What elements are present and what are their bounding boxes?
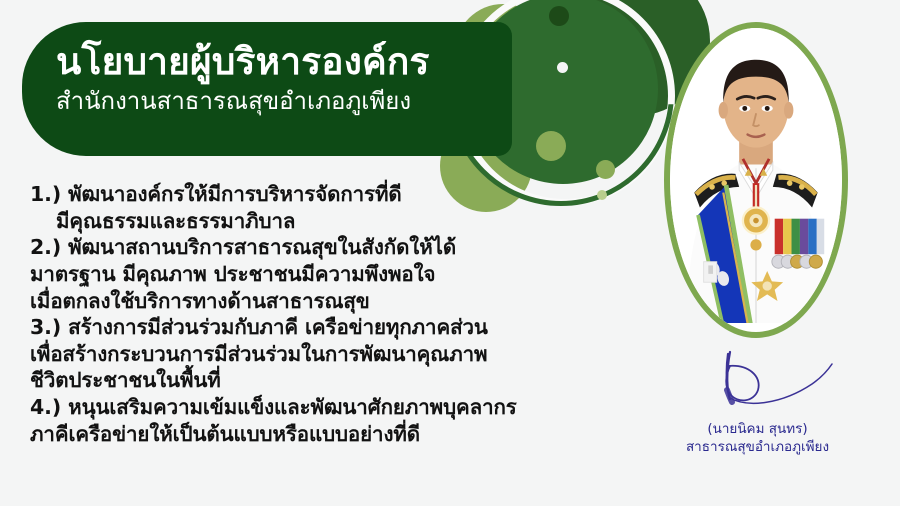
policy-line: เมื่อตกลงใช้บริการทางด้านสาธารณสุข	[30, 288, 620, 315]
policy-line: มาตรฐาน มีคุณภาพ ประชาชนมีความพึงพอใจ	[30, 261, 620, 288]
policy-line: 1.) พัฒนาองค์กรให้มีการบริหารจัดการที่ดี	[30, 181, 620, 208]
policy-line: ชีวิตประชาชนในพื้นที่	[30, 367, 620, 394]
policy-line: ภาคีเครือข่ายให้เป็นต้นแบบหรือแบบอย่างที…	[30, 421, 620, 448]
policy-line: เพื่อสร้างกระบวนการมีส่วนร่วมในการพัฒนาค…	[30, 341, 620, 368]
policy-line: มีคุณธรรมและธรรมาภิบาล	[30, 208, 620, 235]
policy-line: 2.) พัฒนาสถานบริการสาธารณสุขในสังกัดให้ไ…	[30, 234, 620, 261]
header-banner: นโยบายผู้บริหารองค์กร สำนักงานสาธารณสุขอ…	[22, 22, 512, 156]
decor-dot-dark	[549, 6, 569, 26]
policy-line: 3.) สร้างการมีส่วนร่วมกับภาคี เครือข่ายท…	[30, 314, 620, 341]
slide-canvas: นโยบายผู้บริหารองค์กร สำนักงานสาธารณสุขอ…	[0, 0, 900, 506]
caption-name: (นายนิคม สุนทร)	[650, 420, 865, 438]
policy-list: 1.) พัฒนาองค์กรให้มีการบริหารจัดการที่ดี…	[30, 181, 620, 447]
signature-caption: (นายนิคม สุนทร) สาธารณสุขอำเภอภูเพียง	[650, 420, 865, 456]
decor-dot-light	[596, 160, 615, 179]
caption-position: สาธารณสุขอำเภอภูเพียง	[650, 438, 865, 456]
page-subtitle: สำนักงานสาธารณสุขอำเภอภูเพียง	[56, 87, 512, 116]
page-title: นโยบายผู้บริหารองค์กร	[56, 42, 512, 82]
decor-dot-white	[557, 62, 568, 73]
portrait-frame	[664, 22, 848, 338]
policy-line: 4.) หนุนเสริมความเข้มแข็งและพัฒนาศักยภาพ…	[30, 394, 620, 421]
portrait-photo	[670, 28, 842, 323]
signature-mark	[686, 350, 846, 422]
decor-dot-medium	[536, 131, 566, 161]
